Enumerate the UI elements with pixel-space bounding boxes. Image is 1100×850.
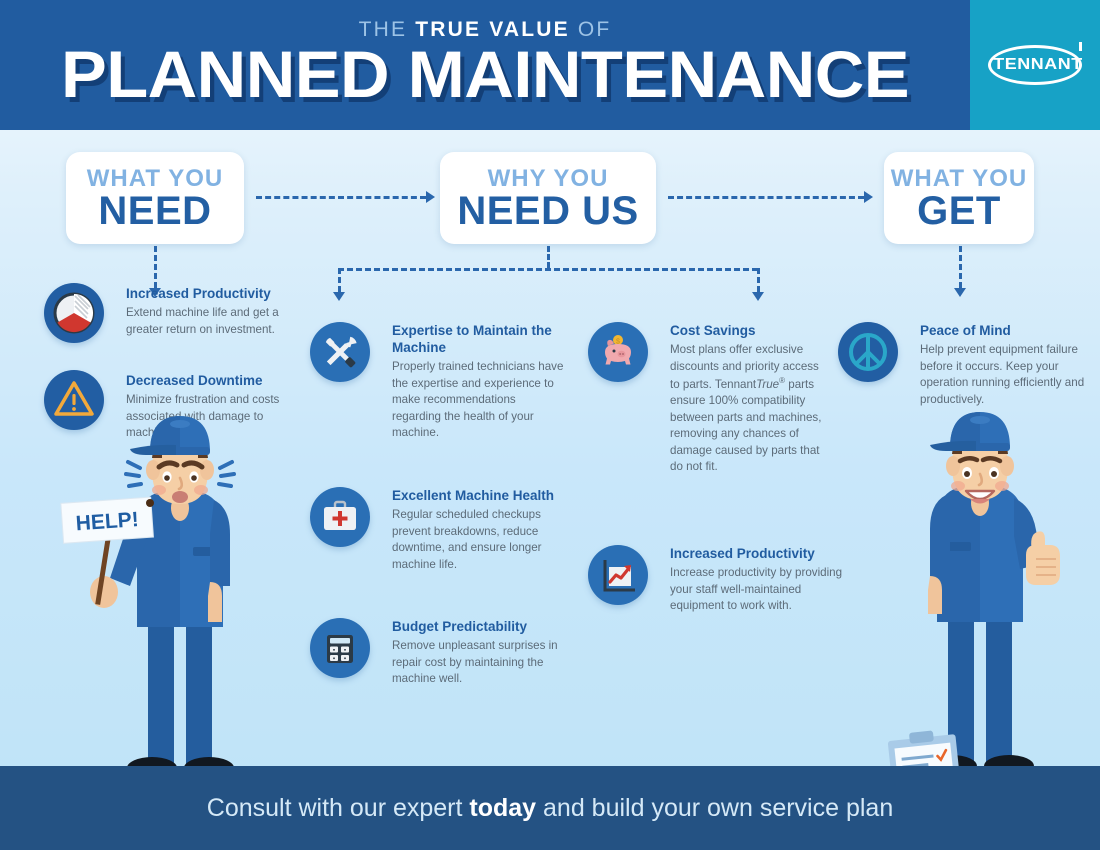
footer-pre: Consult with our expert [207,794,470,822]
page-footer: Consult with our expert today and build … [0,766,1100,850]
wrench-screwdriver-icon [310,322,370,382]
item-body: Regular scheduled checkups prevent break… [392,507,570,573]
calculator-icon [310,618,370,678]
tennant-logo: TENNANT [988,45,1082,85]
sad-worker-illustration: HELP! [61,416,234,779]
connector-arrow-right [864,191,873,203]
connector-needus-branch-left [338,268,341,292]
cost-body-italic: True [756,378,779,391]
svg-text:HELP!: HELP! [75,508,139,535]
item-body: Properly trained technicians have the ex… [392,359,567,441]
card-large-label: NEED US [440,191,656,232]
infographic-canvas: THE TRUE VALUE OF PLANNED MAINTENANCE TE… [0,0,1100,850]
connector-arrow-down [954,288,966,297]
tennant-logo-text: TENNANT [985,48,1090,82]
footer-cta-text: Consult with our expert today and build … [0,766,1100,850]
growth-chart-icon [588,545,648,605]
item-title: Expertise to Maintain the Machine [392,322,567,356]
item-body: Help prevent equipment failure before it… [920,342,1085,408]
connector-needus-branch-right [757,268,760,292]
card-large-label: NEED [66,191,244,232]
footer-post: and build your own service plan [536,794,893,822]
card-small-label: WHAT YOU [884,166,1034,191]
item-title: Cost Savings [670,322,830,339]
item-title: Peace of Mind [920,322,1085,339]
item-body: Increase productivity by providing your … [670,565,845,614]
peace-sign-icon [838,322,898,382]
warning-triangle-icon [44,370,104,430]
page-title: PLANNED MAINTENANCE [0,36,989,112]
card-small-label: WHAT YOU [66,166,244,191]
connector-needus-split [338,268,758,271]
page-header: THE TRUE VALUE OF PLANNED MAINTENANCE TE… [0,0,1100,130]
column-header-why-you-need-us[interactable]: WHY YOU NEED US [440,152,656,244]
item-title: Budget Predictability [392,618,570,635]
footer-bold: today [469,794,536,822]
item-body: Most plans offer exclusive discounts and… [670,342,830,475]
card-small-label: WHY YOU [440,166,656,191]
column-header-what-you-need[interactable]: WHAT YOU NEED [66,152,244,244]
header-banner: THE TRUE VALUE OF PLANNED MAINTENANCE [0,0,970,130]
column-header-what-you-get[interactable]: WHAT YOU GET [884,152,1034,244]
pie-chart-icon [44,283,104,343]
connector-needus-to-get [668,196,864,199]
item-title: Decreased Downtime [126,372,304,389]
first-aid-kit-icon [310,487,370,547]
piggy-bank-icon: $ [588,322,648,382]
cost-body-part-2: parts ensure 100% compatibility between … [670,378,821,473]
connector-need-to-needus [256,196,426,199]
item-title: Increased Productivity [126,285,304,302]
connector-get-down [959,246,962,288]
item-title: Increased Productivity [670,545,845,562]
connector-arrow-down [333,292,345,301]
card-large-label: GET [884,191,1034,232]
connector-arrow-right [426,191,435,203]
item-body: Extend machine life and get a greater re… [126,305,304,338]
connector-need-down [154,246,157,288]
connector-needus-down [547,246,550,268]
item-body: Minimize frustration and costs associate… [126,392,304,441]
logo-panel: TENNANT [970,0,1100,130]
logo-tick-mark [1079,42,1082,51]
item-title: Excellent Machine Health [392,487,570,504]
item-body: Remove unpleasant surprises in repair co… [392,638,570,687]
connector-arrow-down [752,292,764,301]
